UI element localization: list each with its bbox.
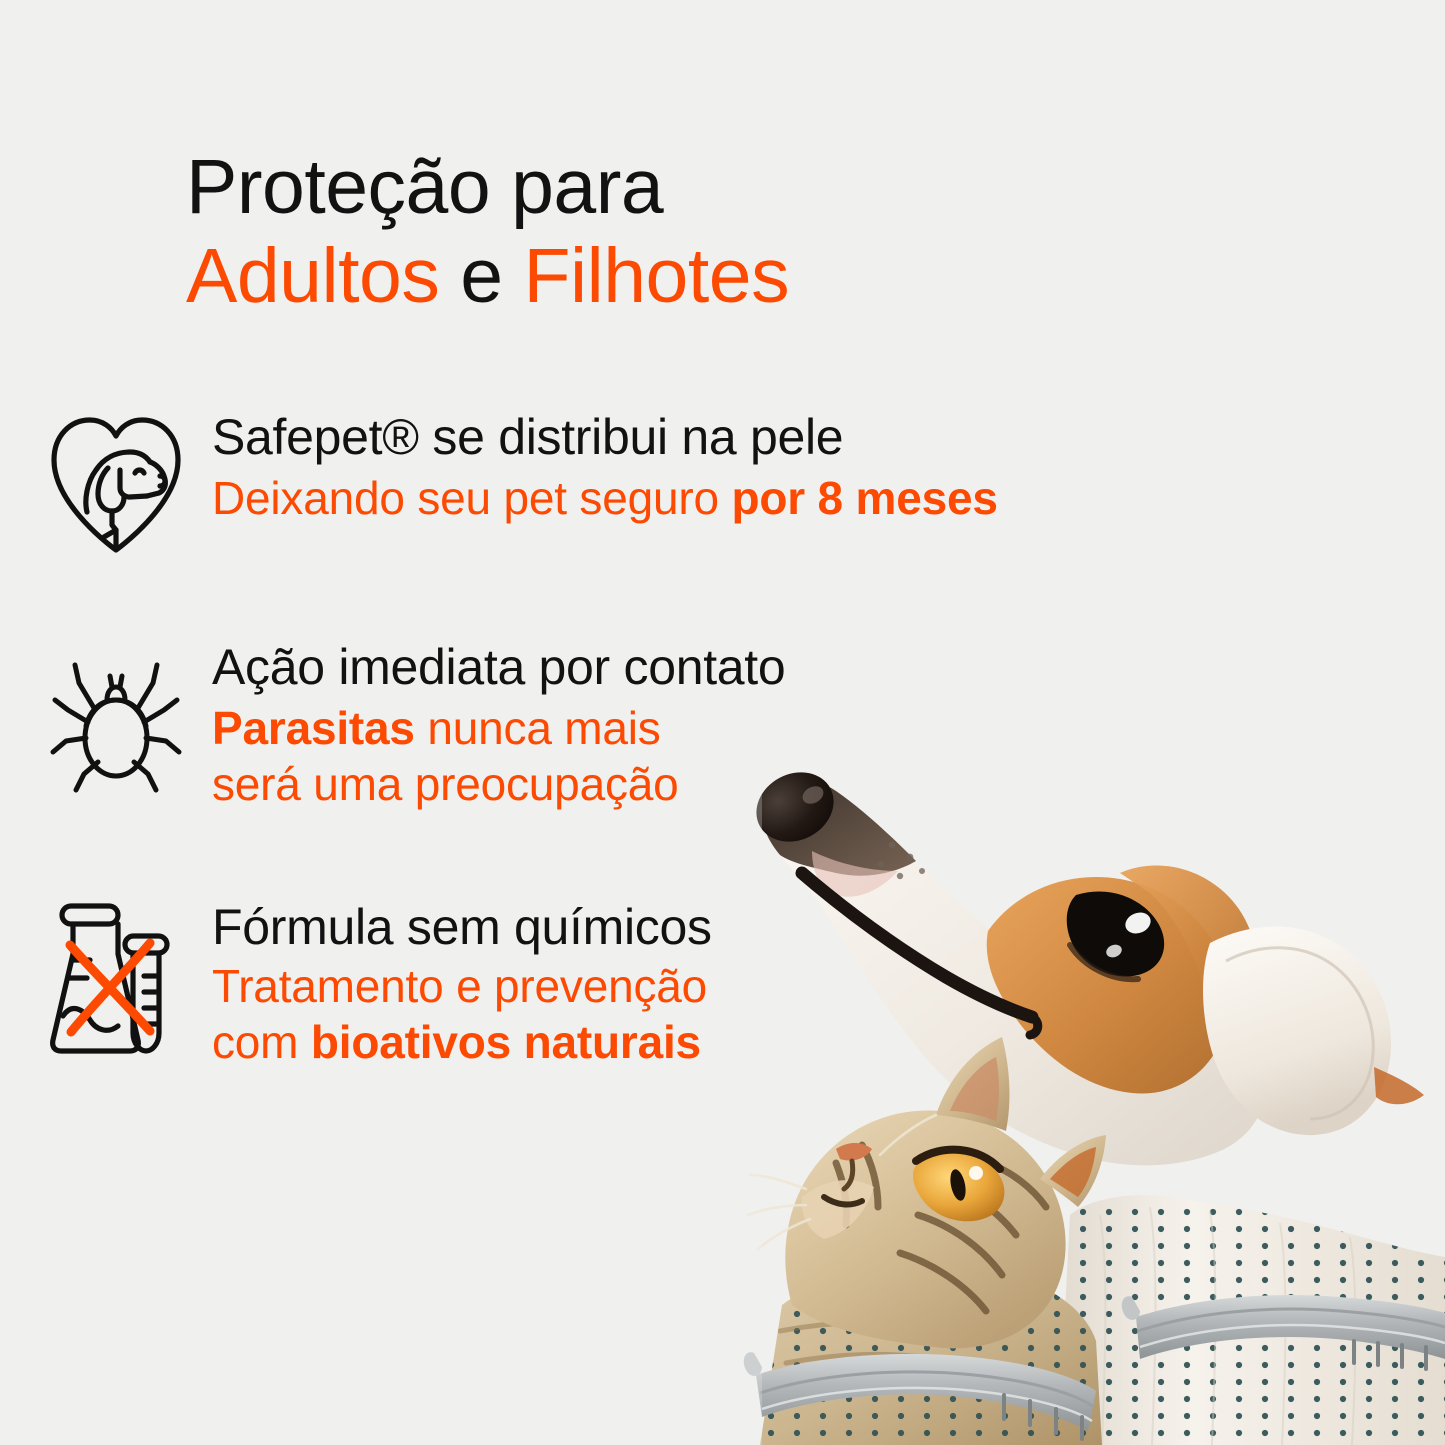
feature-3-sub-bold: bioativos naturais [311, 1016, 701, 1068]
headline-line-1: Proteção para [186, 148, 789, 227]
feature-1-sub-line-1: Deixando seu pet seguro por 8 meses [212, 470, 998, 526]
infographic-canvas: Proteção para Adultos e Filhotes [0, 0, 1445, 1445]
heart-dog-icon [46, 408, 186, 558]
feature-1-title: Safepet® se distribui na pele [212, 410, 998, 464]
feature-3-sub-line-1: Tratamento e prevenção [212, 958, 712, 1014]
dog-collar [1122, 1295, 1445, 1369]
feature-2-text: Ação imediata por contato Parasitas nunc… [212, 638, 785, 812]
pet-photo [740, 745, 1445, 1445]
feature-2-title: Ação imediata por contato [212, 640, 785, 694]
page-title: Proteção para Adultos e Filhotes [186, 148, 789, 315]
feature-2-sub-line-2: será uma preocupação [212, 756, 785, 812]
no-chemicals-flask-icon [46, 898, 186, 1063]
feature-3-subtitle: Tratamento e prevenção com bioativos nat… [212, 958, 712, 1070]
feature-2-sub-normal: nunca mais [415, 702, 661, 754]
feature-3-title: Fórmula sem químicos [212, 900, 712, 954]
feature-1-subtitle: Deixando seu pet seguro por 8 meses [212, 470, 998, 526]
feature-1-text: Safepet® se distribui na pele Deixando s… [212, 408, 998, 526]
headline-conjunction: e [439, 233, 523, 319]
feature-2-sub-line-1: Parasitas nunca mais [212, 700, 785, 756]
headline-word-filhotes: Filhotes [523, 233, 789, 319]
feature-item-immediate-action: Ação imediata por contato Parasitas nunc… [46, 638, 785, 812]
feature-item-no-chemicals: Fórmula sem químicos Tratamento e preven… [46, 898, 712, 1070]
tick-parasite-icon [46, 638, 186, 798]
feature-item-skin-distribution: Safepet® se distribui na pele Deixando s… [46, 408, 998, 558]
cat-collar [744, 1352, 1096, 1439]
feature-3-sub-line-2: com bioativos naturais [212, 1014, 712, 1070]
headline-word-adultos: Adultos [186, 233, 439, 319]
headline-line-2: Adultos e Filhotes [186, 237, 789, 316]
feature-3-text: Fórmula sem químicos Tratamento e preven… [212, 898, 712, 1070]
feature-2-subtitle: Parasitas nunca mais será uma preocupaçã… [212, 700, 785, 812]
feature-3-sub-normal: com [212, 1016, 311, 1068]
feature-2-sub-bold: Parasitas [212, 702, 415, 754]
feature-1-sub-normal: Deixando seu pet seguro [212, 472, 731, 524]
feature-1-sub-bold: por 8 meses [731, 472, 997, 524]
